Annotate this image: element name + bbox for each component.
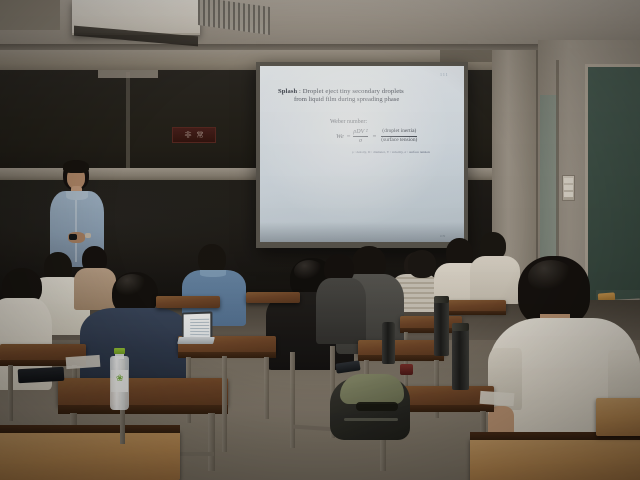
audience-member xyxy=(316,254,364,340)
desk-edge xyxy=(58,405,228,414)
slide-title-rest: : Droplet eject tiny secondary droplets xyxy=(297,88,404,95)
formula-symbol: We xyxy=(336,133,344,140)
water-bottle: ❀ xyxy=(110,348,129,410)
laptop-keyboard[interactable] xyxy=(177,337,215,344)
light-switch-panel[interactable] xyxy=(562,175,575,201)
thermos-cap xyxy=(452,323,469,331)
formula-approx: = xyxy=(373,133,377,140)
desk-edge xyxy=(448,311,506,315)
handout-paper xyxy=(66,355,101,369)
desk xyxy=(246,292,300,303)
audience-member xyxy=(182,244,244,320)
desk-edge xyxy=(358,355,444,361)
backpack xyxy=(330,368,416,440)
desk xyxy=(0,430,180,480)
panel-divider xyxy=(126,72,130,172)
chair-frame xyxy=(290,352,295,448)
desk xyxy=(358,340,444,356)
sign-char: 非 xyxy=(185,130,192,140)
thermos-flask xyxy=(434,300,449,356)
thermos-flask xyxy=(382,322,395,364)
formula-fraction: ρDV ² σ xyxy=(353,129,367,145)
desk-edge xyxy=(178,352,276,358)
desk xyxy=(58,378,228,406)
weber-number-label: Weber number: xyxy=(330,119,367,125)
handout-paper xyxy=(480,391,515,406)
slide-title-line-1: Splash : Droplet eject tiny secondary dr… xyxy=(278,88,454,96)
light-switch[interactable] xyxy=(564,185,573,190)
fraction-bar xyxy=(353,136,367,137)
person-collar xyxy=(200,270,226,277)
backpack-flap xyxy=(340,374,404,404)
bottle-cap xyxy=(114,348,125,354)
presenter-hair xyxy=(63,160,89,173)
desk-leg xyxy=(208,413,215,471)
light-switch[interactable] xyxy=(564,178,573,183)
remote-clicker-icon xyxy=(69,234,77,240)
desk xyxy=(596,398,640,436)
slide-number: 111 xyxy=(440,72,449,77)
hair-sheen xyxy=(116,274,148,298)
formula-equals: = xyxy=(347,133,351,140)
desk-leg xyxy=(264,357,269,419)
slide-title: Splash : Droplet eject tiny secondary dr… xyxy=(278,88,454,104)
slide-keyword: Splash xyxy=(278,88,297,95)
person-torso xyxy=(316,278,366,344)
desk-leg xyxy=(8,365,13,421)
ceiling-corner xyxy=(0,0,60,30)
slide-title-line-2: from liquid film during spreading phase xyxy=(294,96,454,104)
leaf-logo-icon: ❀ xyxy=(116,374,124,382)
thermos-cap xyxy=(434,296,449,303)
backpack-zipper xyxy=(344,418,398,421)
presenter-watch xyxy=(85,233,91,238)
thermos-flask xyxy=(452,328,469,390)
weber-number-formula: We = ρDV ² σ = (droplet inertia) (surfac… xyxy=(336,129,456,145)
light-switch[interactable] xyxy=(564,192,573,197)
panel-bracket xyxy=(98,70,158,78)
chair-frame xyxy=(222,356,227,452)
emergency-sign: 非 常 xyxy=(172,127,216,143)
hair-sheen xyxy=(528,260,574,294)
notebook xyxy=(18,367,65,383)
formula-numerator: ρDV ² xyxy=(353,129,367,135)
sign-char: 常 xyxy=(197,130,204,140)
lecture-hall-photo: 非 常 111 Splash : Droplet eject tiny seco… xyxy=(0,0,640,480)
desk xyxy=(156,296,220,308)
formula-nomenclature: ρ : density, D : diameter, V : velocity,… xyxy=(352,150,430,154)
desk xyxy=(470,438,640,480)
laptop[interactable] xyxy=(178,312,214,346)
person-head xyxy=(408,250,436,278)
audience-member xyxy=(80,272,188,390)
ratio-numerator: (droplet inertia) xyxy=(382,129,416,135)
desk-edge xyxy=(0,425,180,433)
backpack-strap xyxy=(356,402,398,411)
ratio-denominator: (surface tension) xyxy=(381,138,417,144)
presenter-collar xyxy=(66,191,88,200)
formula-ratio: (droplet inertia) (surface tension) xyxy=(381,129,417,144)
formula-denominator: σ xyxy=(359,138,362,144)
